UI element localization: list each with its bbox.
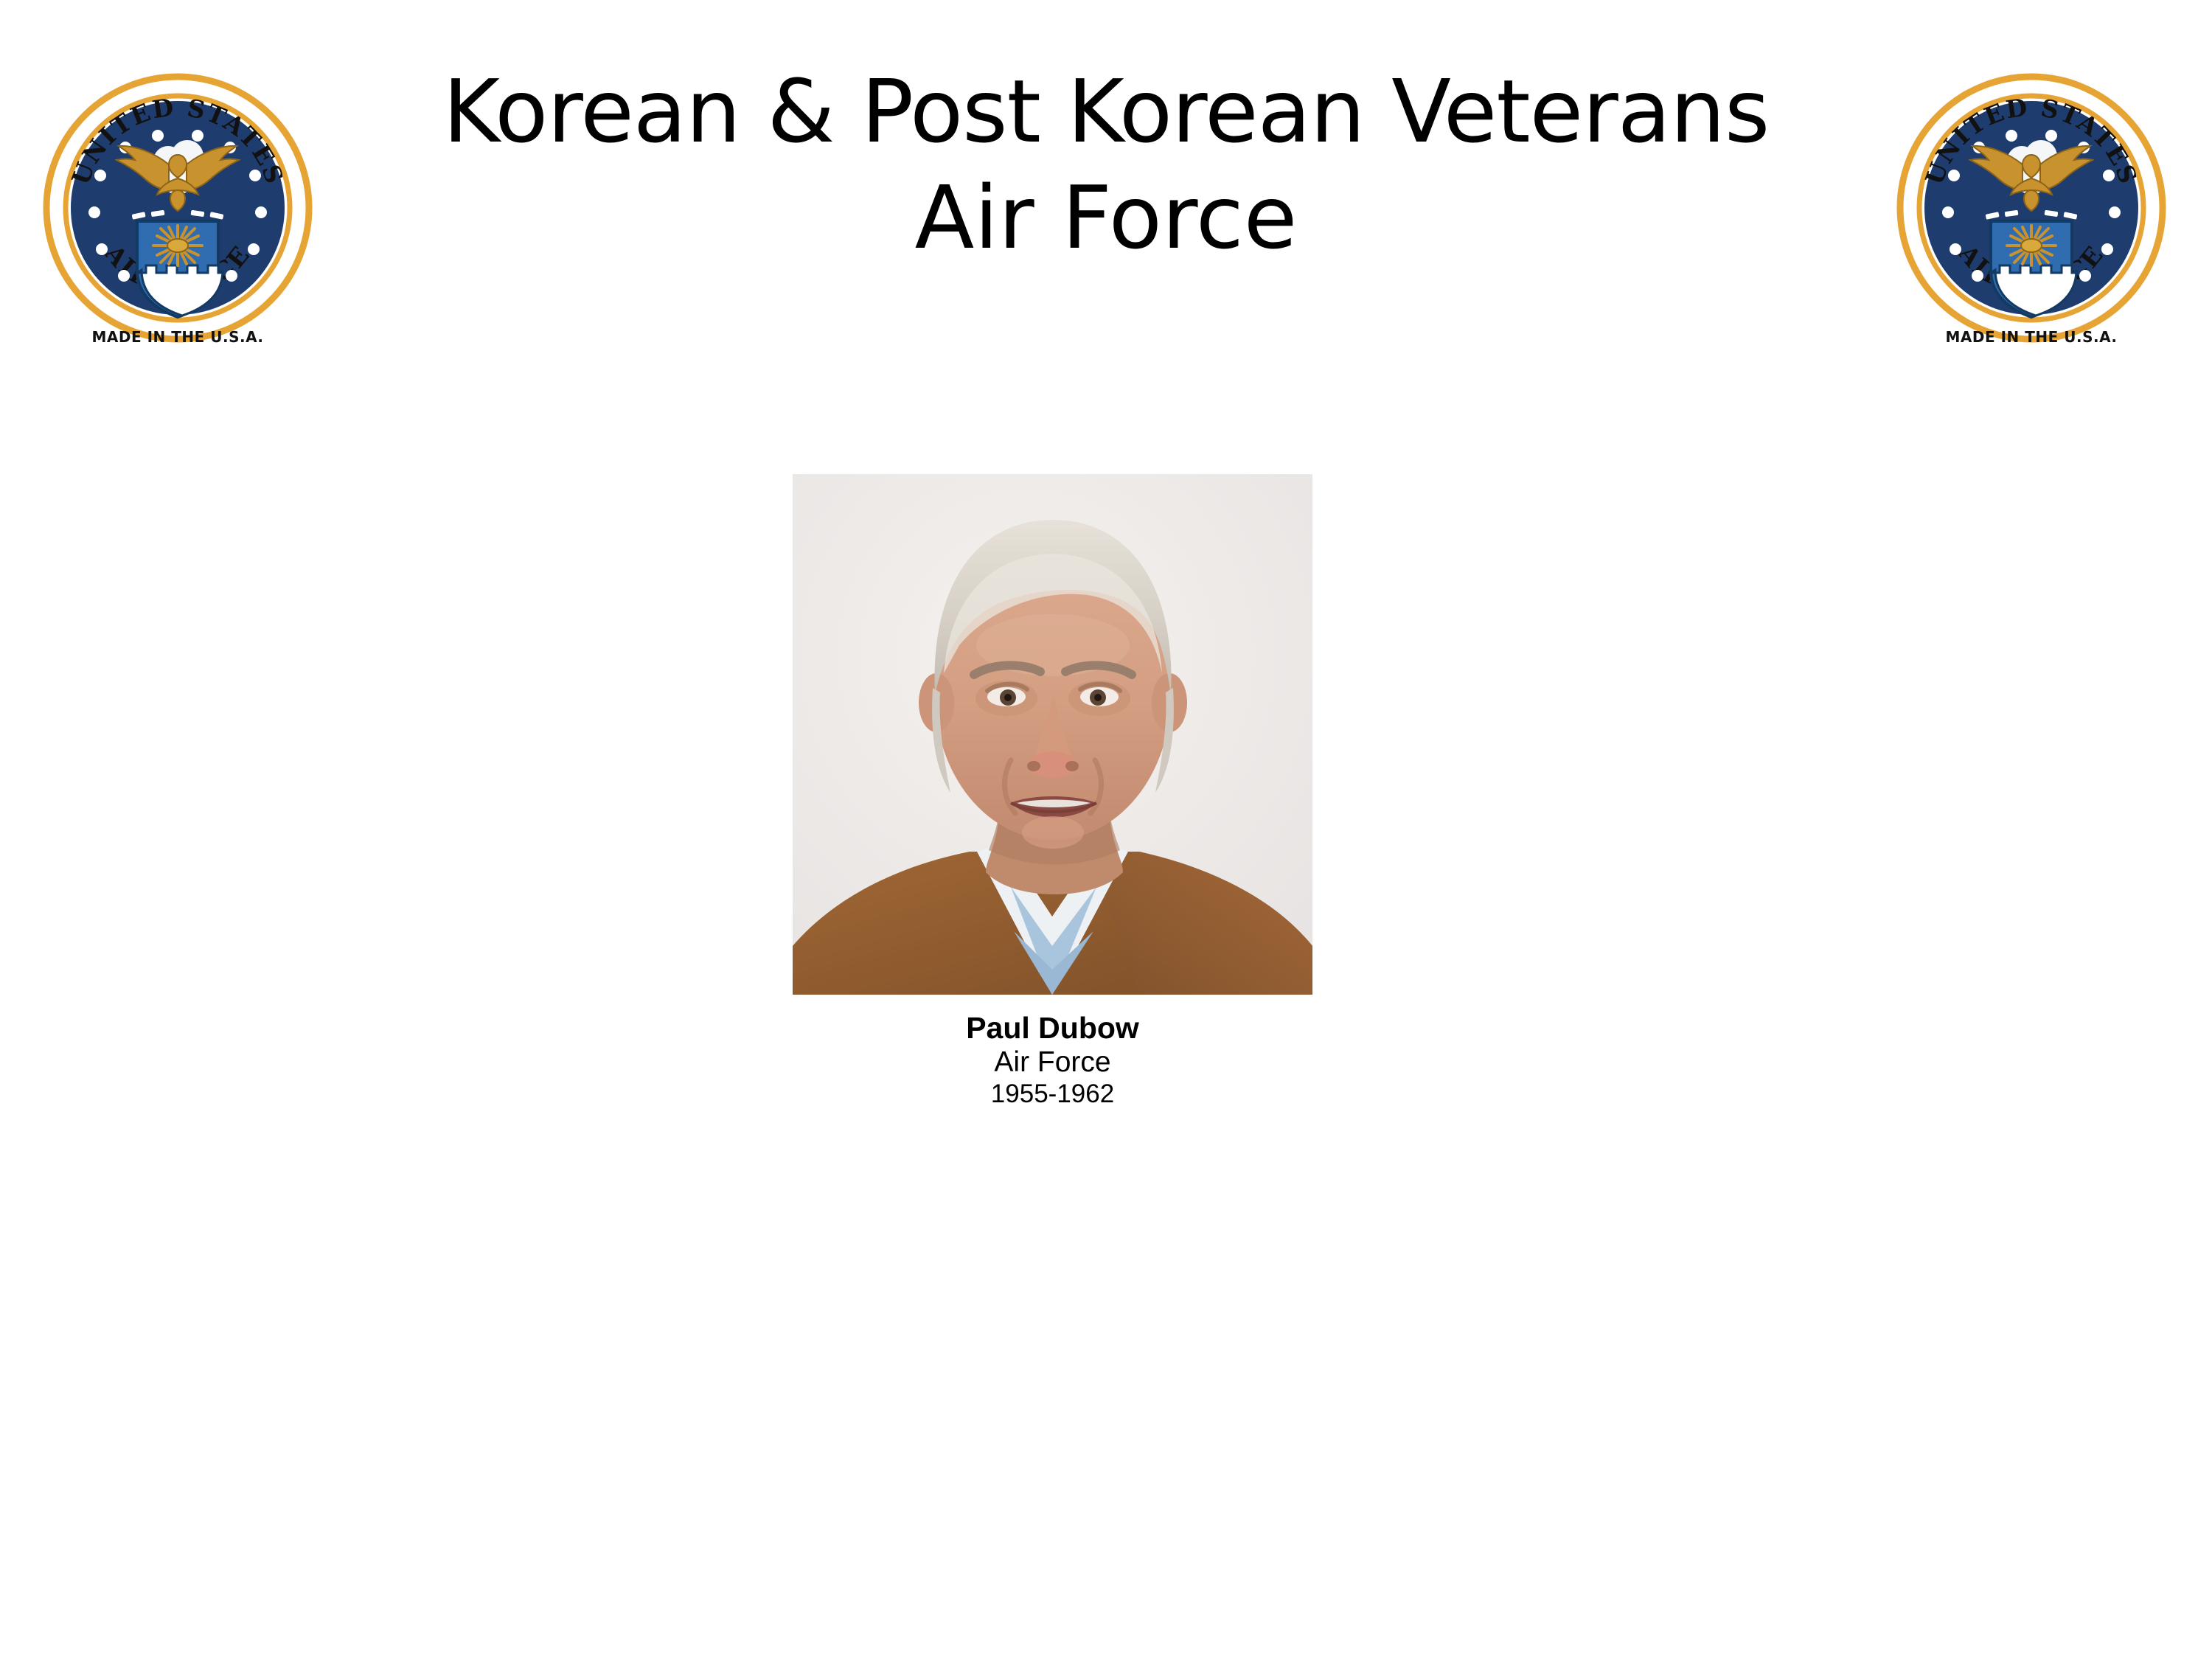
- air-force-seal-left-logo: UNITED STATES AIR FORCE: [43, 68, 313, 348]
- veteran-portrait-photo: [793, 474, 1312, 995]
- slide-canvas: UNITED STATES AIR FORCE: [0, 0, 2212, 1659]
- portrait-caption: Paul Dubow Air Force 1955-1962: [793, 1012, 1312, 1109]
- title-line-1: Korean & Post Korean Veterans: [324, 59, 1888, 165]
- svg-text:MADE IN THE U.S.A.: MADE IN THE U.S.A.: [1945, 328, 2117, 346]
- title-line-2: Air Force: [324, 165, 1888, 271]
- caption-branch: Air Force: [793, 1046, 1312, 1079]
- caption-veteran-name: Paul Dubow: [793, 1012, 1312, 1046]
- air-force-seal-right-logo: UNITED STATES AIR FORCE: [1896, 68, 2166, 348]
- slide-title: Korean & Post Korean Veterans Air Force: [324, 59, 1888, 271]
- svg-text:MADE IN THE U.S.A.: MADE IN THE U.S.A.: [91, 328, 263, 346]
- caption-service-years: 1955-1962: [793, 1079, 1312, 1109]
